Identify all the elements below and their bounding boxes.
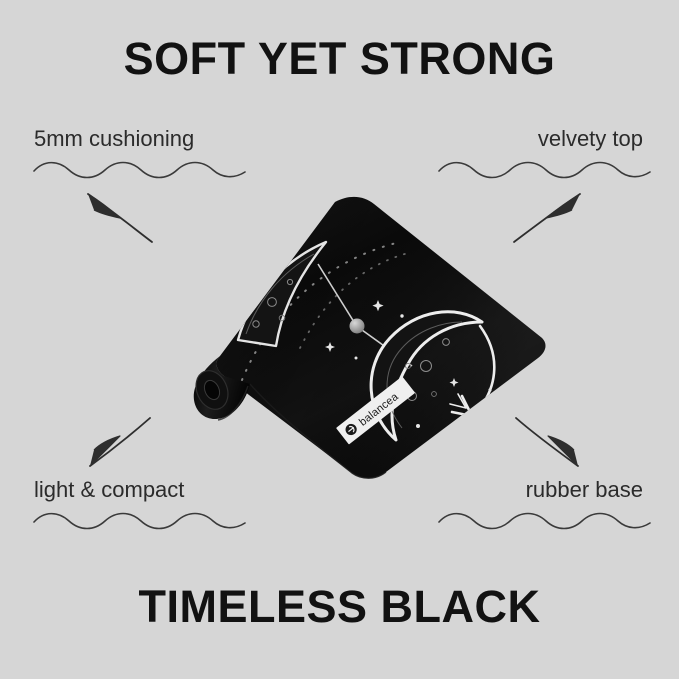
wave-divider-rubber-base [437,509,655,531]
product-image-yoga-mat: balancea [150,190,550,490]
feature-cushioning: 5mm cushioning [24,126,274,180]
feature-cushioning-label: 5mm cushioning [24,126,274,152]
wave-divider-velvety-top [437,158,655,180]
arrow-down-left-icon [80,414,160,472]
product-infographic: SOFT YET STRONG 5mm cushioning velvety t… [0,0,679,679]
wave-divider-light-compact [32,509,250,531]
feature-velvety-top-label: velvety top [405,126,655,152]
arrow-up-left-icon [78,186,158,248]
wave-divider-cushioning [32,158,250,180]
page-title-bottom: TIMELESS BLACK [0,581,679,633]
sphere-dot [350,319,365,334]
page-title-top: SOFT YET STRONG [0,33,679,85]
feature-velvety-top: velvety top [405,126,655,180]
